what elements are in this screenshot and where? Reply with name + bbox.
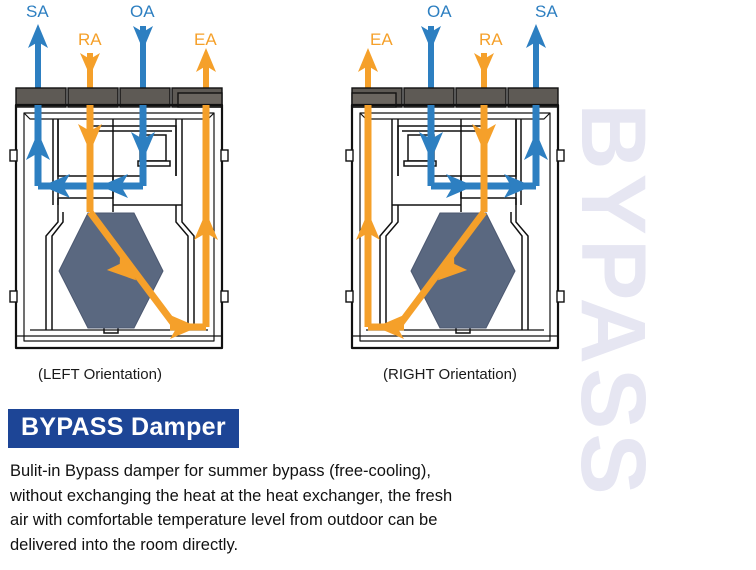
unit-diagram-right <box>336 0 666 392</box>
description-line-2: without exchanging the heat at the heat … <box>10 484 630 509</box>
label-oa-left: OA <box>130 2 155 22</box>
port-arrow-sa-r <box>526 24 546 97</box>
port-arrow-oa-r <box>421 26 441 97</box>
label-oa-right: OA <box>427 2 452 22</box>
diagram-page: BYPASS <box>0 0 756 570</box>
port-arrow-sa <box>28 24 48 97</box>
unit-diagram-left <box>0 0 330 392</box>
bypass-damper-banner: BYPASS Damper <box>8 409 239 448</box>
description-line-1: Bulit-in Bypass damper for summer bypass… <box>10 459 630 484</box>
label-sa-left: SA <box>26 2 49 22</box>
description-line-4: delivered into the room directly. <box>10 533 630 558</box>
caption-left-orientation: (LEFT Orientation) <box>38 366 162 383</box>
port-arrow-oa <box>133 26 153 97</box>
description-block: Bulit-in Bypass damper for summer bypass… <box>10 459 630 557</box>
label-ea-left: EA <box>194 30 217 50</box>
label-sa-right: SA <box>535 2 558 22</box>
caption-right-orientation: (RIGHT Orientation) <box>383 366 517 383</box>
label-ea-right: EA <box>370 30 393 50</box>
label-ra-right: RA <box>479 30 503 50</box>
description-line-3: air with comfortable temperature level f… <box>10 508 630 533</box>
port-arrows-left <box>28 24 216 97</box>
label-ra-left: RA <box>78 30 102 50</box>
